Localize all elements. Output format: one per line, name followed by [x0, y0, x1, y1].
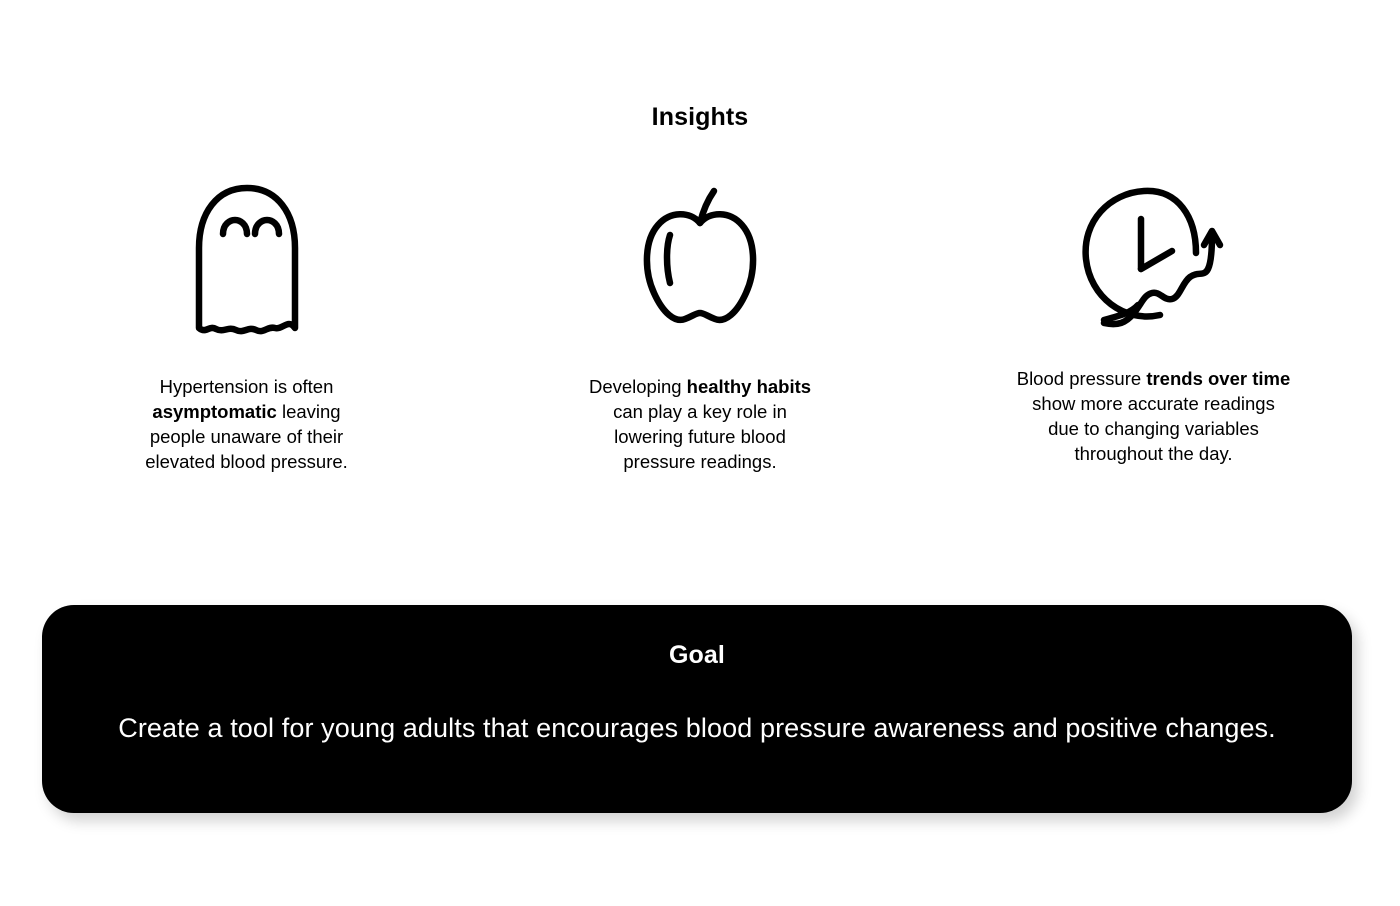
- goal-title: Goal: [42, 641, 1352, 670]
- insight-caption-3: Blood pressure trends over time show mor…: [1015, 366, 1293, 466]
- insights-page: Insights Hypertension is often asymptoma…: [0, 0, 1400, 906]
- apple-icon: [630, 178, 770, 338]
- page-title: Insights: [0, 103, 1400, 132]
- insight-card-2: Developing healthy habits can play a key…: [494, 178, 907, 474]
- ghost-icon: [187, 178, 307, 338]
- insight-card-3: Blood pressure trends over time show mor…: [947, 178, 1360, 466]
- insight-caption-1: Hypertension is often asymptomatic leavi…: [125, 374, 369, 474]
- clock-trend-icon: [1074, 178, 1234, 338]
- goal-banner: Goal Create a tool for young adults that…: [42, 605, 1352, 813]
- insight-card-1: Hypertension is often asymptomatic leavi…: [40, 178, 453, 474]
- insight-caption-2: Developing healthy habits can play a key…: [578, 374, 822, 474]
- goal-statement: Create a tool for young adults that enco…: [42, 713, 1352, 744]
- insights-row: Hypertension is often asymptomatic leavi…: [0, 178, 1400, 474]
